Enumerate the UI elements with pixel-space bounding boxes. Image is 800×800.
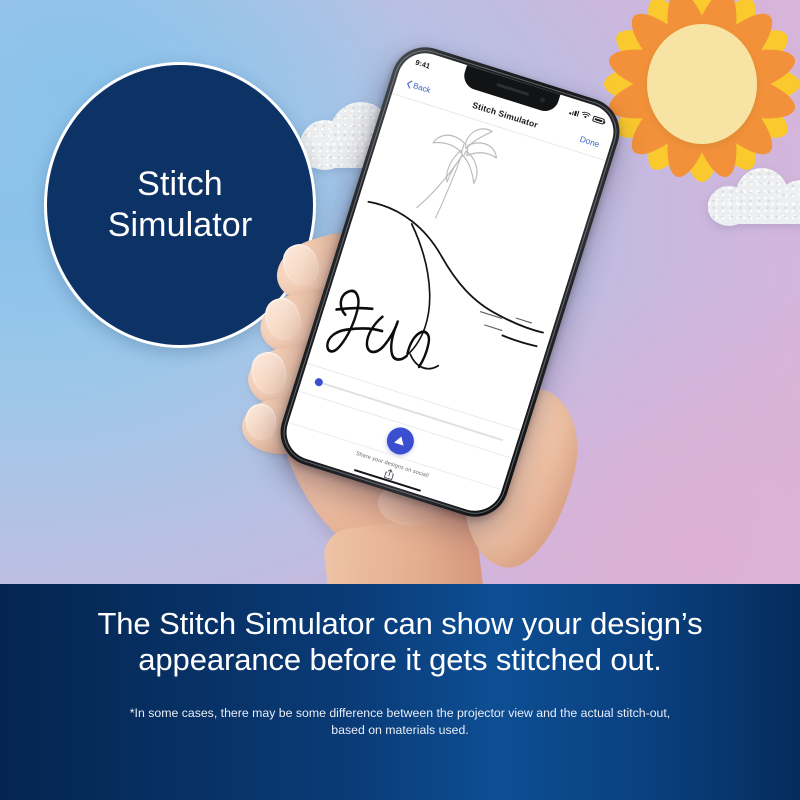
bottom-banner: The Stitch Simulator can show your desig…: [0, 584, 800, 800]
banner-headline: The Stitch Simulator can show your desig…: [80, 606, 720, 679]
shoreline-drawing: [326, 201, 565, 399]
sun-core: [647, 24, 757, 144]
slider-knob[interactable]: [314, 377, 324, 387]
banner-footnote: *In some cases, there may be some differ…: [120, 705, 680, 740]
done-button[interactable]: Done: [579, 133, 601, 149]
palm-tree-drawing: [412, 115, 504, 230]
badge-line-2: Simulator: [108, 205, 253, 246]
back-button[interactable]: Back: [405, 79, 431, 95]
signal-bars-icon: [569, 108, 579, 116]
badge-line-1: Stitch: [108, 164, 253, 205]
status-time: 9:41: [414, 58, 431, 71]
back-button-label: Back: [412, 81, 432, 95]
front-camera-icon: [540, 97, 546, 103]
cursive-word-fun: [324, 288, 437, 379]
wave-marks: [477, 307, 531, 338]
cloud-icon: [704, 166, 800, 228]
promo-graphic: Stitch Simulator 9:41: [0, 0, 800, 800]
sun-icon: [596, 0, 800, 190]
wifi-icon: [580, 111, 591, 120]
battery-icon: [592, 115, 605, 124]
earpiece-speaker: [496, 83, 529, 96]
play-button[interactable]: [383, 423, 417, 457]
